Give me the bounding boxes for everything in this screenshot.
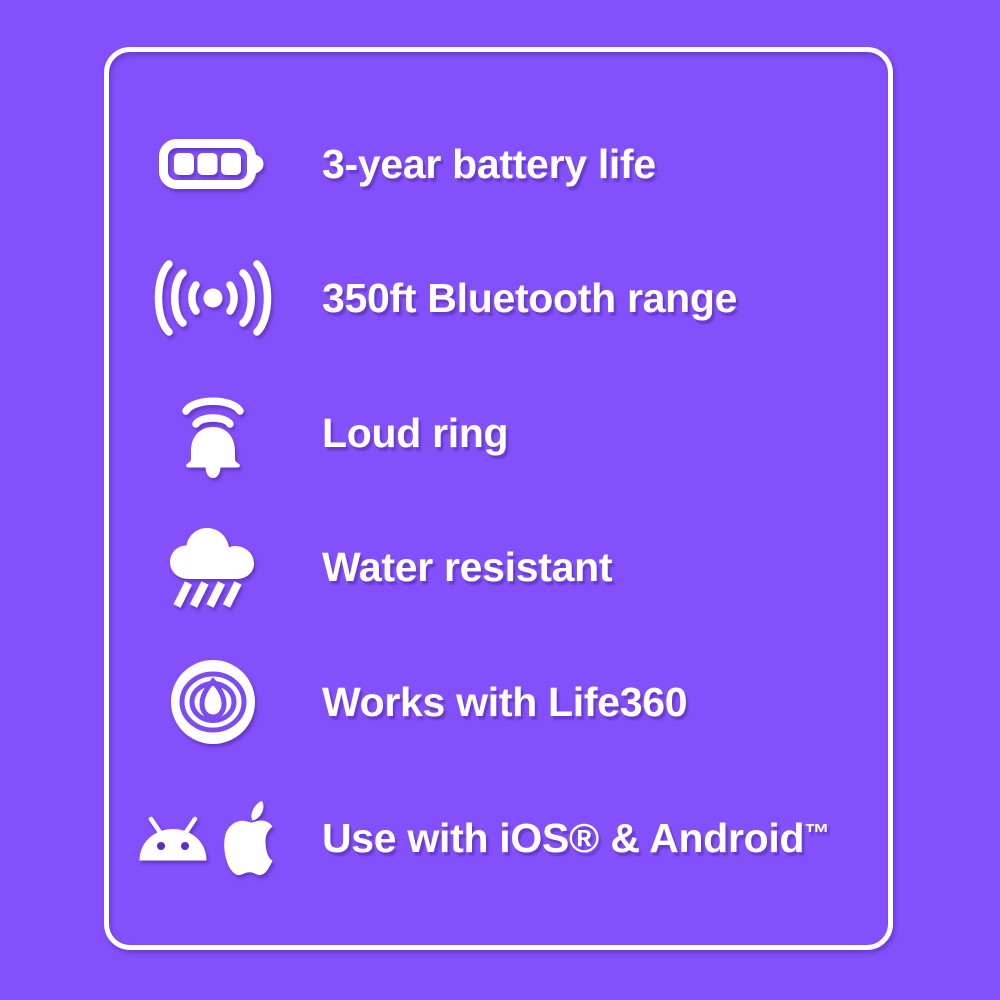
list-item: 3-year battery life bbox=[104, 109, 893, 219]
trademark-mark: ™ bbox=[804, 819, 829, 847]
list-item-label: Loud ring bbox=[322, 413, 893, 454]
list-item-label: 3-year battery life bbox=[322, 144, 893, 185]
feature-list: 3-year battery life 350ft Bluetooth rang… bbox=[104, 47, 893, 950]
list-item: Loud ring bbox=[104, 378, 893, 488]
list-item-label: Works with Life360 bbox=[322, 682, 893, 723]
list-item: Works with Life360 bbox=[104, 647, 893, 757]
bluetooth-signal-waves-icon bbox=[104, 243, 322, 353]
battery-full-icon bbox=[104, 109, 322, 219]
life360-logo-icon bbox=[104, 647, 322, 757]
label-prefix: Use with iOS bbox=[322, 815, 569, 861]
registered-mark: ® bbox=[569, 815, 599, 861]
ringing-bell-icon bbox=[104, 378, 322, 488]
list-item-label: 350ft Bluetooth range bbox=[322, 278, 893, 319]
android-robot-icon bbox=[137, 810, 209, 866]
list-item: Use with iOS® & Android™ bbox=[104, 783, 893, 893]
list-item: 350ft Bluetooth range bbox=[104, 243, 893, 353]
platform-icons-group bbox=[104, 783, 322, 893]
label-middle: & Android bbox=[599, 815, 804, 861]
list-item: Water resistant bbox=[104, 512, 893, 622]
list-item-label: Water resistant bbox=[322, 547, 893, 588]
rain-cloud-icon bbox=[104, 512, 322, 622]
apple-logo-icon bbox=[223, 801, 283, 875]
list-item-label: Use with iOS® & Android™ bbox=[322, 818, 893, 859]
